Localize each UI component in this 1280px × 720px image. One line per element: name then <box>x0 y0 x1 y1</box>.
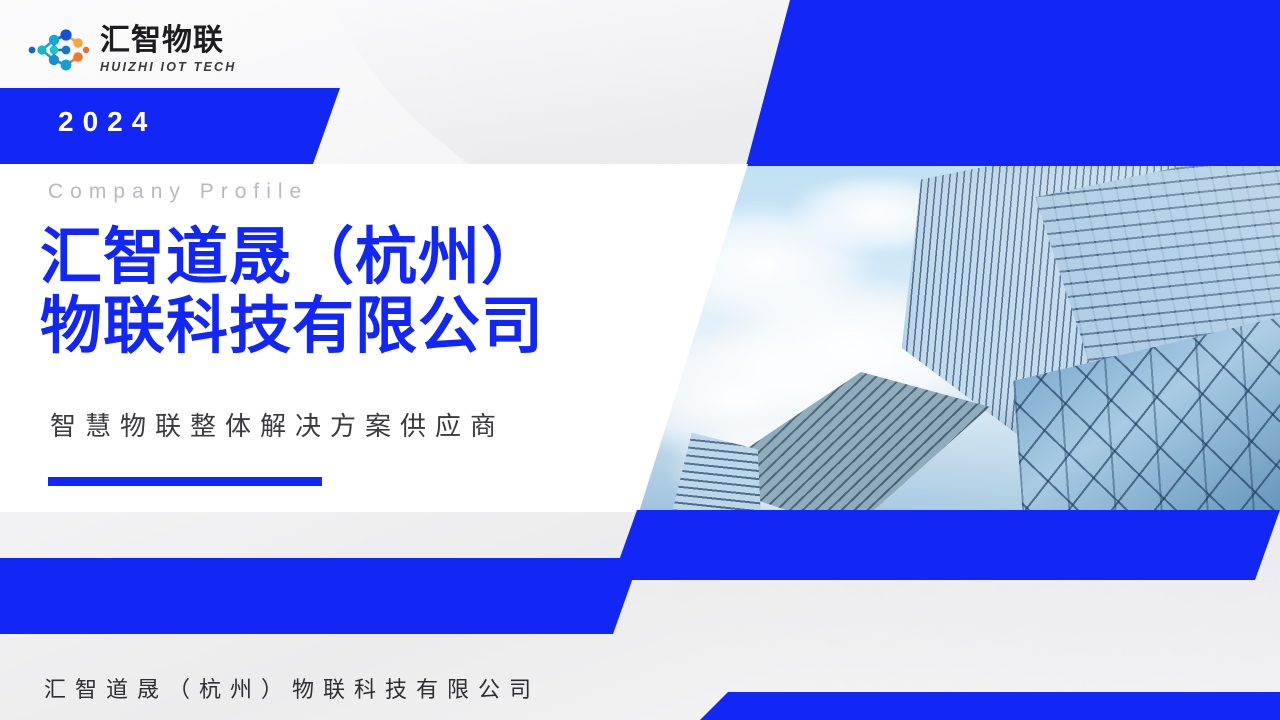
blue-mid-right-band <box>590 510 1280 580</box>
blue-year-ribbon <box>0 88 340 164</box>
footer-company-name: 汇智道晟（杭州）物联科技有限公司 <box>44 672 540 704</box>
subtitle-tagline: 智慧物联整体解决方案供应商 <box>50 406 505 443</box>
year-label: 2024 <box>58 106 156 138</box>
blue-bottom-band <box>700 692 1280 720</box>
blue-title-rule <box>48 477 322 486</box>
presentation-slide: 汇智物联 HUIZHI IOT TECH 2024 Company Profil… <box>0 0 1280 720</box>
logo-english-name: HUIZHI IOT TECH <box>100 61 236 74</box>
logo-chinese-name: 汇智物联 <box>100 26 236 56</box>
photo-overlay-shade <box>637 164 1280 510</box>
page-title: 汇智道晟（杭州） 物联科技有限公司 <box>40 222 730 361</box>
eyebrow-company-profile: Company Profile <box>48 180 308 204</box>
skyscraper-glass-facade-photo <box>637 164 1280 510</box>
logo-wordmark: 汇智物联 HUIZHI IOT TECH <box>100 26 236 74</box>
blue-lower-left-band <box>0 558 640 634</box>
company-logo[interactable]: 汇智物联 HUIZHI IOT TECH <box>28 22 236 78</box>
molecular-network-icon <box>28 27 90 73</box>
